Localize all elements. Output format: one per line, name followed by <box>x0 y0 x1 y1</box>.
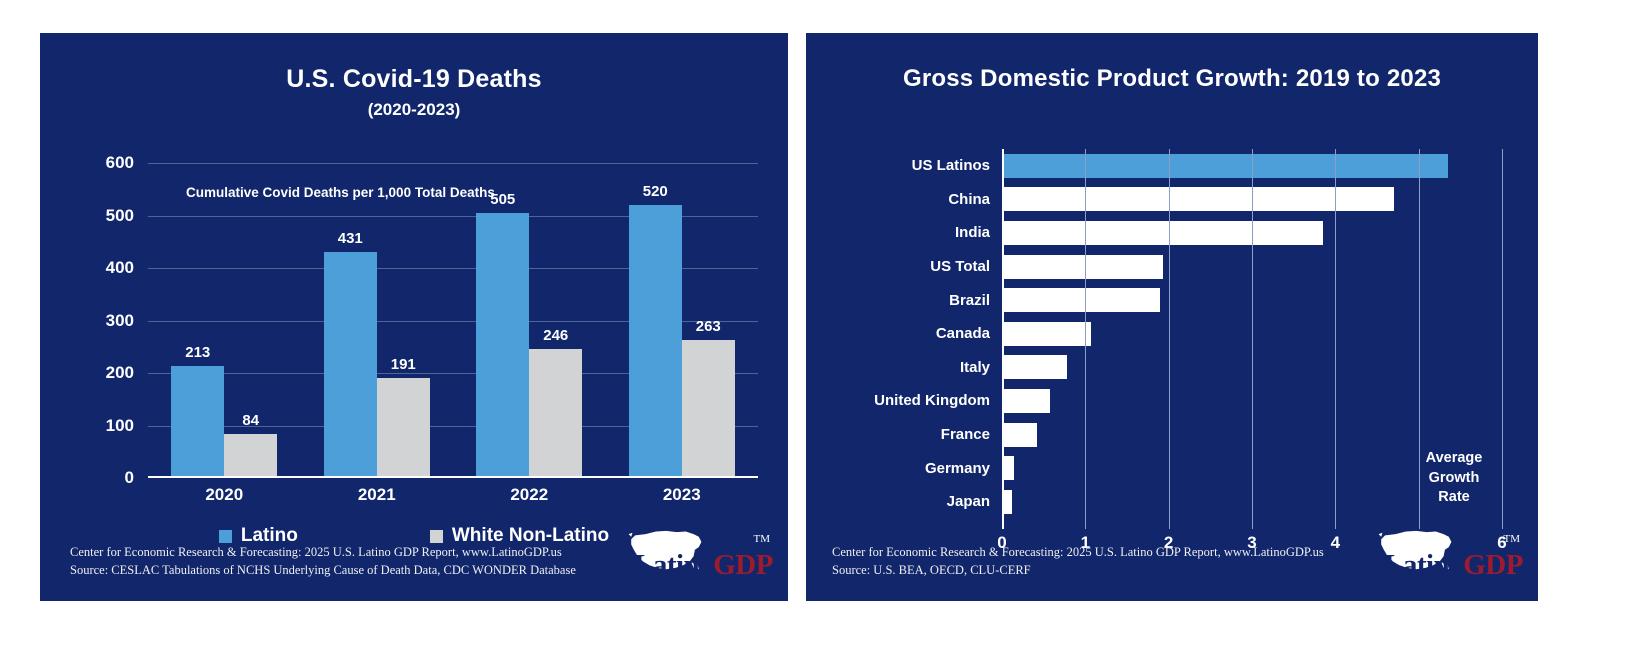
table-row: Italy <box>806 351 1538 385</box>
footer-line-2: Source: U.S. BEA, OECD, CLU-CERF <box>832 561 1324 579</box>
bar[interactable] <box>1002 355 1067 379</box>
y-tick-label: 200 <box>106 363 134 383</box>
table-row: US Latinos <box>806 149 1538 183</box>
bar-value-label: 246 <box>543 327 568 344</box>
logo-wordmark: LatinoGDP <box>1384 549 1523 582</box>
table-row: India <box>806 216 1538 250</box>
bar-group: 431191 <box>301 163 454 478</box>
average-growth-rate-annotation: Average Growth Rate <box>1406 449 1502 508</box>
bar-value-label: 431 <box>338 230 363 247</box>
category-label: Germany <box>806 460 1002 477</box>
bar[interactable]: 191 <box>377 378 430 478</box>
table-row: US Total <box>806 250 1538 284</box>
table-row: Canada <box>806 317 1538 351</box>
table-row: China <box>806 183 1538 217</box>
page-title: U.S. Covid-19 Deaths <box>40 65 788 94</box>
bar[interactable]: 505 <box>476 213 529 478</box>
logo-latino-text: Latino <box>634 549 713 581</box>
category-label: US Latinos <box>806 157 1002 174</box>
x-category-label: 2022 <box>453 485 606 505</box>
chart-subtitle: (2020-2023) <box>40 100 788 120</box>
logo-gdp-text: GDP <box>713 549 773 581</box>
footer-credits: Center for Economic Research & Forecasti… <box>832 543 1324 579</box>
bar-value-label: 84 <box>242 412 259 429</box>
table-row: France <box>806 418 1538 452</box>
footer-line-1: Center for Economic Research & Forecasti… <box>832 543 1324 561</box>
bar-slot: 213 <box>171 163 224 478</box>
legend-swatch <box>430 530 443 543</box>
x-axis-line <box>148 476 758 478</box>
bar[interactable] <box>1002 389 1050 413</box>
bar-slot: 246 <box>529 163 582 478</box>
bar-value-label: 263 <box>696 318 721 335</box>
x-category-label: 2023 <box>606 485 759 505</box>
category-label: Brazil <box>806 292 1002 309</box>
bar[interactable] <box>1002 288 1160 312</box>
bar-slot: 84 <box>224 163 277 478</box>
covid-plot-area: Cumulative Covid Deaths per 1,000 Total … <box>148 163 758 478</box>
bar[interactable] <box>1002 221 1323 245</box>
gdp-growth-chart-panel: Gross Domestic Product Growth: 2019 to 2… <box>806 33 1538 601</box>
bar[interactable]: 84 <box>224 434 277 478</box>
bar-value-label: 191 <box>391 356 416 373</box>
bar[interactable]: 246 <box>529 349 582 478</box>
bar-group: 505246 <box>453 163 606 478</box>
legend-swatch <box>219 530 232 543</box>
bar-track <box>1002 149 1502 183</box>
bar-slot: 431 <box>324 163 377 478</box>
category-label: India <box>806 224 1002 241</box>
bar-slot: 520 <box>629 163 682 478</box>
bar-group: 520263 <box>606 163 759 478</box>
bar[interactable]: 520 <box>629 205 682 478</box>
y-tick-label: 100 <box>106 416 134 436</box>
x-category-label: 2020 <box>148 485 301 505</box>
category-label: France <box>806 426 1002 443</box>
y-tick-label: 300 <box>106 311 134 331</box>
annotation-line-2: Growth <box>1406 469 1502 489</box>
x-category-labels: 2020202120222023 <box>148 485 758 505</box>
bar-track <box>1002 250 1502 284</box>
bar-track <box>1002 216 1502 250</box>
y-tick-label: 400 <box>106 258 134 278</box>
bar-group: 21384 <box>148 163 301 478</box>
category-label: Canada <box>806 325 1002 342</box>
annotation-line-1: Average <box>1406 449 1502 469</box>
bar[interactable]: 431 <box>324 252 377 478</box>
bar-value-label: 520 <box>643 183 668 200</box>
category-label: US Total <box>806 258 1002 275</box>
bar[interactable] <box>1002 154 1448 178</box>
bar[interactable]: 263 <box>682 340 735 478</box>
category-label: China <box>806 191 1002 208</box>
bar-slot: 191 <box>377 163 430 478</box>
footer-line-2: Source: CESLAC Tabulations of NCHS Under… <box>70 561 576 579</box>
screenshot-root: U.S. Covid-19 Deaths (2020-2023) Cumulat… <box>0 0 1630 646</box>
category-label: Italy <box>806 359 1002 376</box>
bar-track <box>1002 418 1502 452</box>
bar-track <box>1002 183 1502 217</box>
bar-groups: 21384431191505246520263 <box>148 163 758 478</box>
bar[interactable] <box>1002 255 1163 279</box>
table-row: Brazil <box>806 283 1538 317</box>
bar-track <box>1002 317 1502 351</box>
bar[interactable] <box>1002 456 1014 480</box>
bar-slot: 505 <box>476 163 529 478</box>
x-category-label: 2021 <box>301 485 454 505</box>
footer-line-1: Center for Economic Research & Forecasti… <box>70 543 576 561</box>
x-tick-label: 4 <box>1331 533 1340 553</box>
logo-wordmark: LatinoGDP <box>634 549 773 582</box>
bar[interactable] <box>1002 423 1037 447</box>
trademark-symbol: TM <box>754 533 771 545</box>
y-tick-label: 0 <box>125 468 134 488</box>
bar[interactable] <box>1002 187 1394 211</box>
footer-credits: Center for Economic Research & Forecasti… <box>70 543 576 579</box>
bar[interactable] <box>1002 322 1091 346</box>
bar[interactable]: 213 <box>171 366 224 478</box>
latinogdp-logo: LatinoGDP TM <box>620 527 770 585</box>
table-row: United Kingdom <box>806 384 1538 418</box>
trademark-symbol: TM <box>1504 533 1521 545</box>
category-label: Japan <box>806 493 1002 510</box>
bar[interactable] <box>1002 490 1012 514</box>
logo-latino-text: Latino <box>1384 549 1463 581</box>
latinogdp-logo: LatinoGDP TM <box>1370 527 1520 585</box>
category-label: United Kingdom <box>806 392 1002 409</box>
bar-slot: 263 <box>682 163 735 478</box>
y-tick-label: 500 <box>106 206 134 226</box>
bar-track <box>1002 384 1502 418</box>
bar-value-label: 213 <box>185 344 210 361</box>
gdp-plot-area: US LatinosChinaIndiaUS TotalBrazilCanada… <box>806 149 1538 529</box>
gdp-chart-title: Gross Domestic Product Growth: 2019 to 2… <box>806 65 1538 93</box>
annotation-line-3: Rate <box>1406 488 1502 508</box>
bar-track <box>1002 351 1502 385</box>
bar-value-label: 505 <box>490 191 515 208</box>
y-tick-label: 600 <box>106 153 134 173</box>
logo-gdp-text: GDP <box>1463 549 1523 581</box>
covid-deaths-chart-panel: U.S. Covid-19 Deaths (2020-2023) Cumulat… <box>40 33 788 601</box>
bar-track <box>1002 283 1502 317</box>
